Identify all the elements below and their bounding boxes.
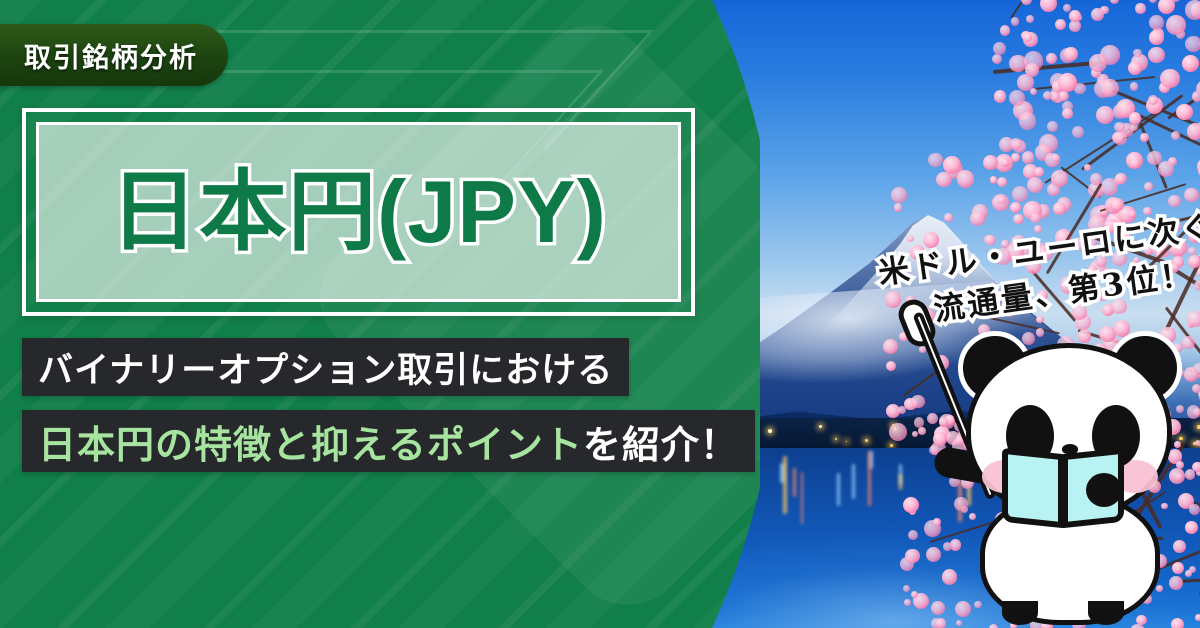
headline-line-2-highlight: 日本円の特徴と抑えるポイント — [38, 425, 583, 467]
panda-paw-right — [1086, 473, 1122, 507]
headline-line-2: 日本円の特徴と抑えるポイントを紹介！ — [38, 414, 739, 469]
headline-bar-2: 日本円の特徴と抑えるポイントを紹介！ — [22, 410, 755, 472]
category-badge-label: 取引銘柄分析 — [24, 36, 198, 75]
headline-line-2-rest: を紹介！ — [583, 425, 739, 467]
panda-foot-left — [1002, 601, 1038, 625]
page-title: 日本円(JPY) — [110, 168, 607, 256]
title-frame-inner: 日本円(JPY) — [36, 122, 681, 302]
headline-bar-1: バイナリーオプション取引における — [22, 338, 629, 396]
book-page-left — [1002, 448, 1064, 529]
panda-foot-right — [1088, 601, 1124, 625]
title-frame: 日本円(JPY) — [22, 108, 695, 316]
panda-mascot — [940, 325, 1200, 628]
headline-line-1: バイナリーオプション取引における — [38, 342, 613, 393]
banner-canvas: 取引銘柄分析 日本円(JPY) バイナリーオプション取引における 日本円の特徴と… — [0, 0, 1200, 628]
category-badge[interactable]: 取引銘柄分析 — [0, 24, 228, 86]
